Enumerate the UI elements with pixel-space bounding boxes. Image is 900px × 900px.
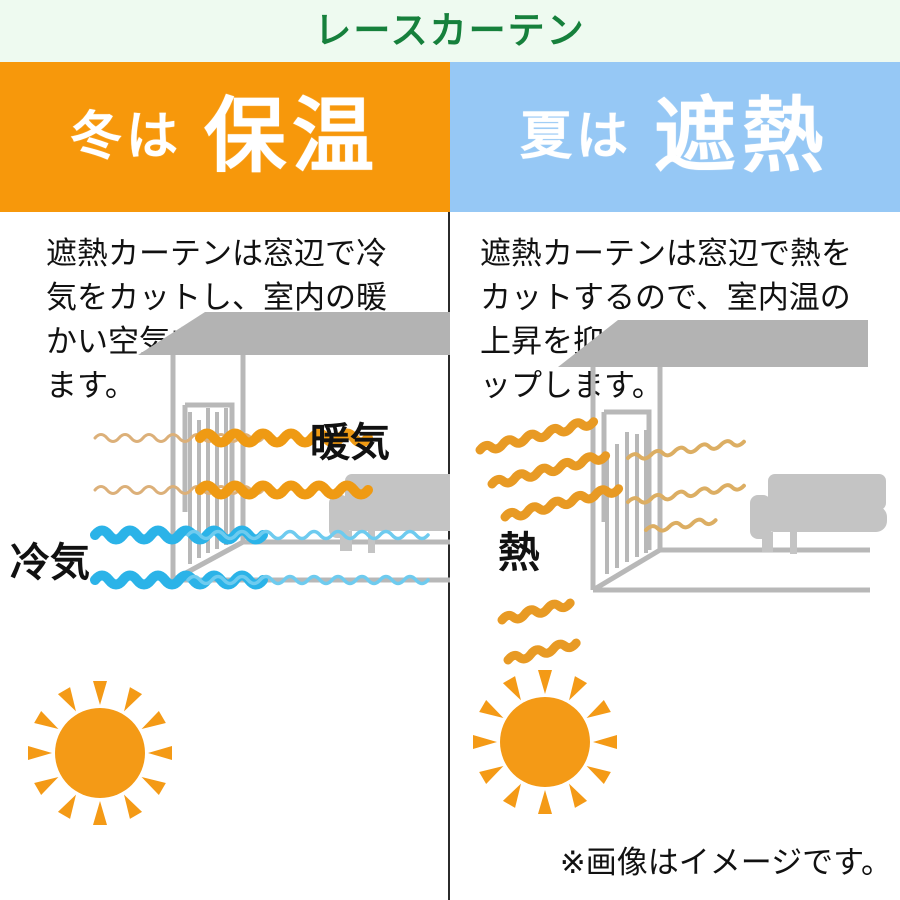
panel-summer: 遮熱カーテンは窓辺で熱をカットするので、室内温の上昇を抑え、冷暖効率をアップしま… bbox=[450, 212, 900, 900]
banner-summer-prefix: 夏は bbox=[520, 111, 650, 163]
panel-winter: 遮熱カーテンは窓辺で冷気をカットし、室内の暖かい空気を逃げにくくします。 bbox=[0, 212, 450, 900]
cold-air-label: 冷気 bbox=[10, 541, 90, 585]
cold-air-wave-icon bbox=[95, 531, 428, 585]
page-title: レースカーテン bbox=[314, 12, 585, 49]
image-disclaimer: ※画像はイメージです。 bbox=[560, 837, 892, 882]
content-columns: 遮熱カーテンは窓辺で冷気をカットし、室内の暖かい空気を逃げにくくします。 bbox=[0, 212, 900, 900]
heat-label: 熱 bbox=[498, 529, 540, 576]
sun-icon bbox=[473, 670, 617, 814]
house-icon bbox=[138, 312, 450, 580]
summer-illustration: 熱 bbox=[450, 212, 900, 900]
warm-air-label: 暖気 bbox=[310, 421, 390, 465]
page-header: レースカーテン bbox=[0, 0, 900, 62]
sun-icon bbox=[28, 681, 172, 825]
banner-winter-keyword: 保温 bbox=[204, 96, 380, 178]
banner-summer: 夏は 遮熱 bbox=[450, 62, 900, 212]
banner-row: 冬は 保温 夏は 遮熱 bbox=[0, 62, 900, 212]
banner-winter-prefix: 冬は bbox=[70, 111, 200, 163]
infographic-page: レースカーテン 冬は 保温 夏は 遮熱 遮熱カーテンは窓辺で冷気をカットし、室内… bbox=[0, 0, 900, 900]
banner-winter: 冬は 保温 bbox=[0, 62, 450, 212]
banner-summer-keyword: 遮熱 bbox=[654, 96, 830, 178]
winter-illustration: 暖気 冷気 bbox=[0, 212, 450, 900]
sofa-icon bbox=[750, 474, 887, 554]
